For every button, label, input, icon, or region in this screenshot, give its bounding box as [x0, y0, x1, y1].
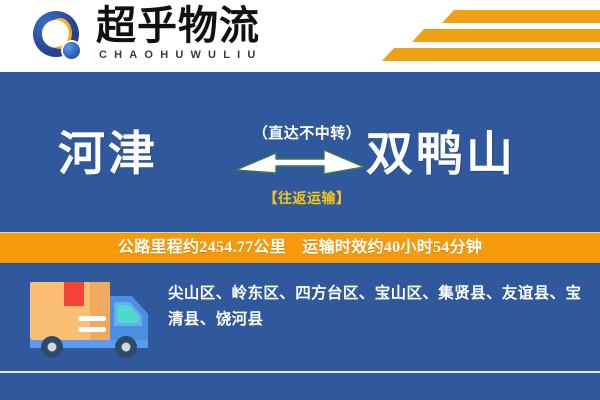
brand-name-en: CHAOHUWULIU [99, 49, 263, 61]
route-note-direct: （直达不中转） [252, 122, 362, 143]
stripe-1 [442, 10, 600, 23]
orange-speed-stripes-icon [340, 0, 600, 72]
bottom-divider [0, 371, 600, 373]
destination-city: 双鸭山 [366, 128, 516, 182]
route-info-text: 公路里程约2454.77公里 运输时效约40小时54分钟 [0, 233, 600, 263]
route-note-roundtrip: 【往返运输】 [248, 188, 366, 208]
circle-crescent-logo-icon [33, 11, 85, 63]
brand-name-cn: 超乎物流 [96, 4, 260, 48]
logistics-route-banner: 超乎物流 CHAOHUWULIU 河津 （直达不中转） 【往返运输】 双鸭山 公… [0, 0, 600, 400]
double-headed-arrow-icon [236, 148, 364, 178]
stripe-3 [382, 48, 600, 61]
covered-districts-text: 尖山区、岭东区、四方台区、宝山区、集贤县、友谊县、宝清县、饶河县 [168, 281, 588, 333]
logo-dot [63, 42, 80, 59]
stripe-2 [412, 29, 600, 42]
route-info-bar: 公路里程约2454.77公里 运输时效约40小时54分钟 [0, 232, 600, 264]
logo-crescent-cut [42, 20, 69, 47]
delivery-truck-icon [26, 278, 156, 360]
banner-header: 超乎物流 CHAOHUWULIU [0, 0, 600, 72]
origin-city: 河津 [58, 128, 158, 182]
